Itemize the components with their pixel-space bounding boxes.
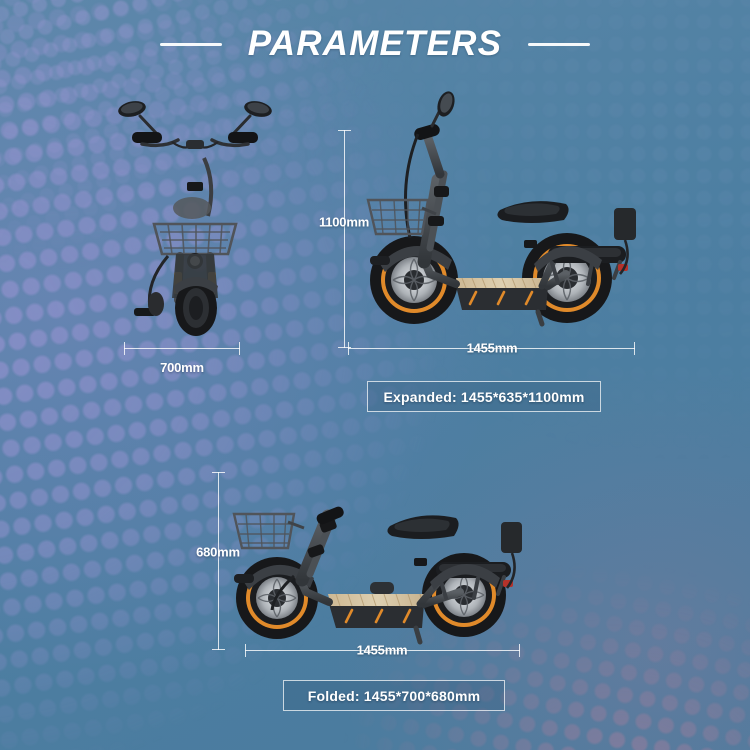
dimension-label-length-folded: 1455mm [350, 643, 415, 658]
dimension-line-height-folded [218, 472, 219, 650]
dimension-line-width-front [124, 348, 240, 349]
dimension-line-height-expanded [344, 130, 345, 348]
page-title-row: PARAMETERS [0, 22, 750, 66]
spec-box-expanded: Expanded: 1455*635*1100mm [367, 381, 601, 412]
side-view-expanded [352, 88, 642, 333]
scooter-side-icon [352, 88, 642, 333]
dimension-label-width-front: 700mm [160, 360, 204, 375]
horizontal-rule-icon-right [528, 43, 590, 46]
dimension-label-height-expanded: 1100mm [312, 215, 376, 230]
scooter-folded-icon [224, 470, 529, 655]
product-parameters-page: PARAMETERS [0, 0, 750, 750]
spec-box-folded: Folded: 1455*700*680mm [283, 680, 505, 711]
horizontal-rule-icon-left [160, 43, 222, 46]
dimension-label-height-folded: 680mm [189, 545, 247, 560]
page-title: PARAMETERS [248, 24, 502, 64]
front-view [112, 86, 278, 336]
dimension-label-length-expanded: 1455mm [460, 341, 525, 356]
scooter-front-icon [112, 86, 278, 336]
spec-label-expanded: Expanded: 1455*635*1100mm [383, 389, 584, 405]
spec-label-folded: Folded: 1455*700*680mm [308, 688, 481, 704]
side-view-folded [224, 470, 529, 655]
